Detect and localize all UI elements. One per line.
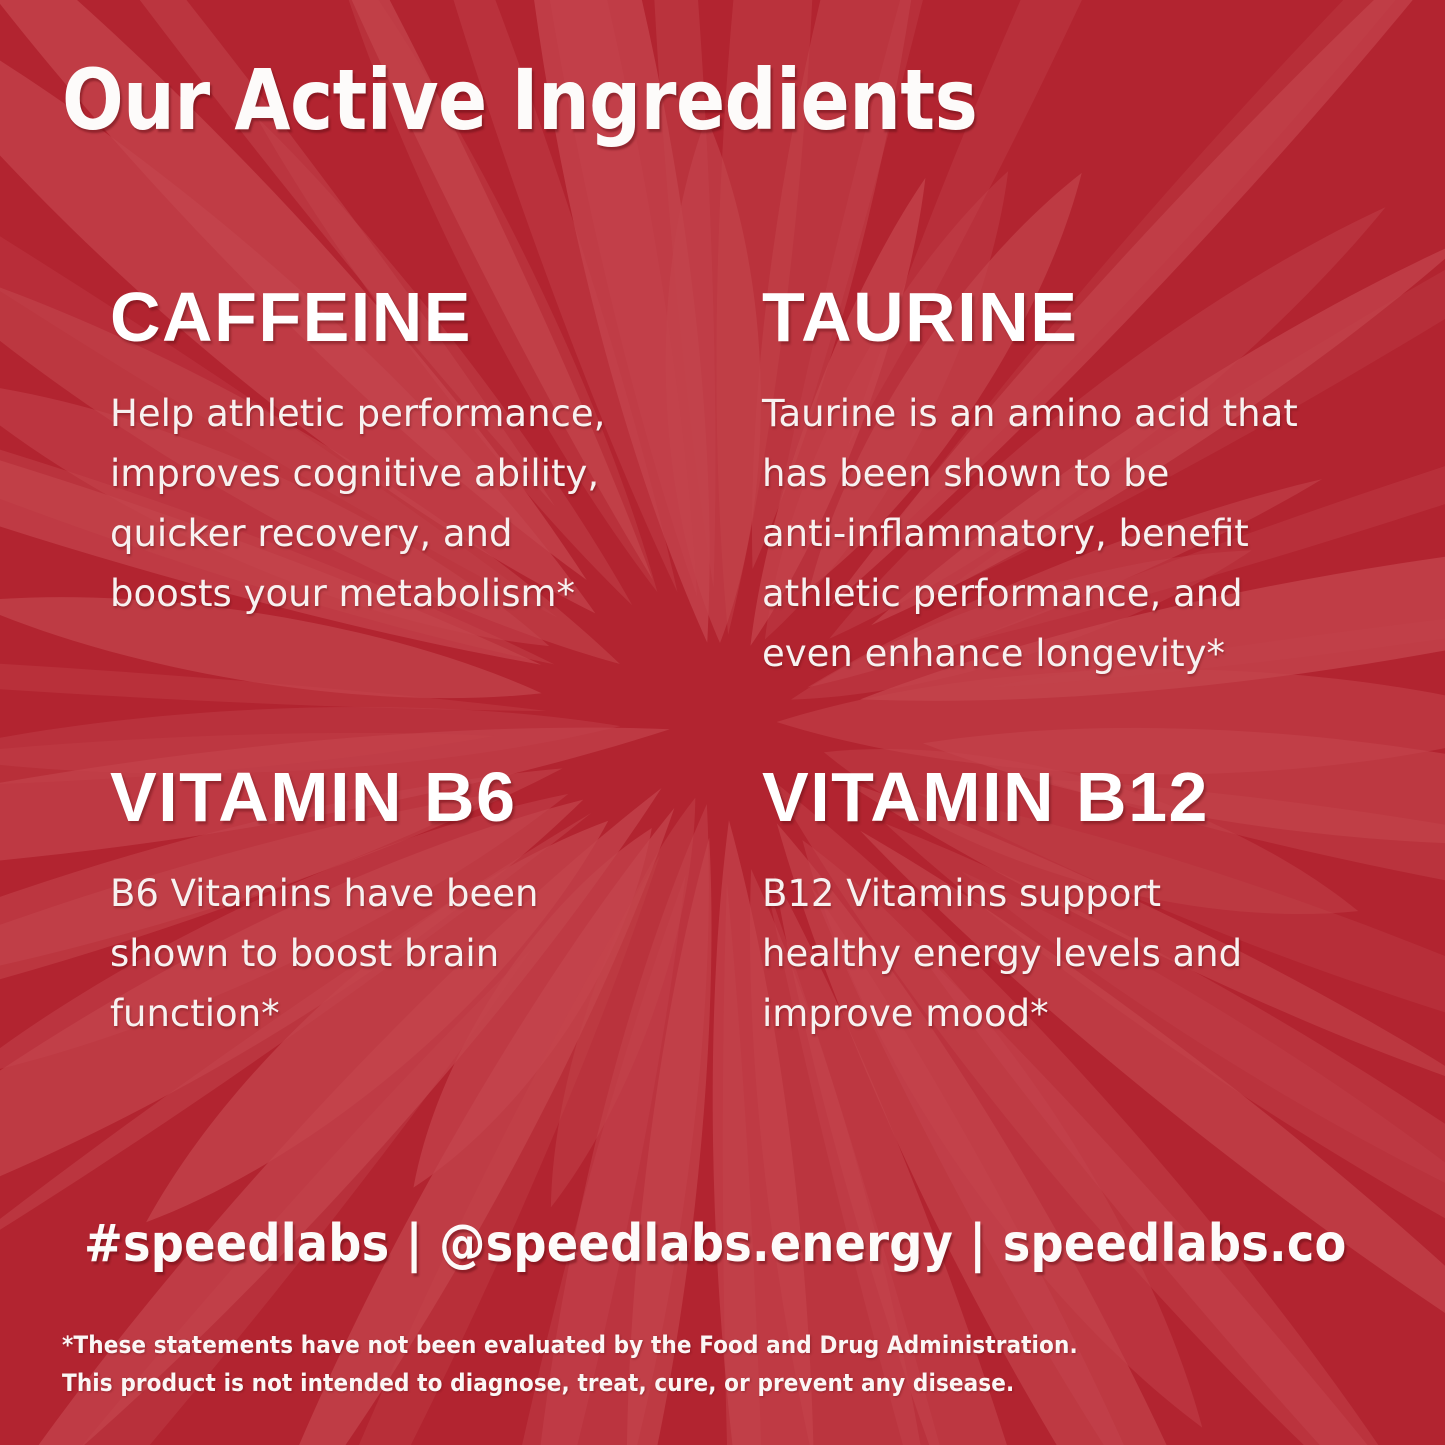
ingredient-card-vitamin-b6: VITAMIN B6 B6 Vitamins have been shown t… <box>110 762 730 1044</box>
ingredient-description: Taurine is an amino acid that has been s… <box>762 384 1402 684</box>
disclaimer-line-2: This product is not intended to diagnose… <box>62 1365 1078 1403</box>
poster-content: Our Active Ingredients CAFFEINE Help ath… <box>0 0 1445 1445</box>
ingredient-description: B12 Vitamins support healthy energy leve… <box>762 864 1402 1044</box>
ingredient-name: TAURINE <box>762 282 1402 352</box>
ingredient-card-vitamin-b12: VITAMIN B12 B12 Vitamins support healthy… <box>762 762 1402 1044</box>
fda-disclaimer: *These statements have not been evaluate… <box>62 1327 1078 1403</box>
ingredient-description: B6 Vitamins have been shown to boost bra… <box>110 864 730 1044</box>
ingredient-card-caffeine: CAFFEINE Help athletic performance, impr… <box>110 282 730 624</box>
social-handles-line: #speedlabs | @speedlabs.energy | speedla… <box>84 1216 1347 1273</box>
ingredients-poster: Our Active Ingredients CAFFEINE Help ath… <box>0 0 1445 1445</box>
ingredient-card-taurine: TAURINE Taurine is an amino acid that ha… <box>762 282 1402 684</box>
ingredient-name: VITAMIN B6 <box>110 762 730 832</box>
ingredient-name: VITAMIN B12 <box>762 762 1402 832</box>
ingredient-description: Help athletic performance, improves cogn… <box>110 384 730 624</box>
disclaimer-line-1: *These statements have not been evaluate… <box>62 1327 1078 1365</box>
ingredient-name: CAFFEINE <box>110 282 730 352</box>
